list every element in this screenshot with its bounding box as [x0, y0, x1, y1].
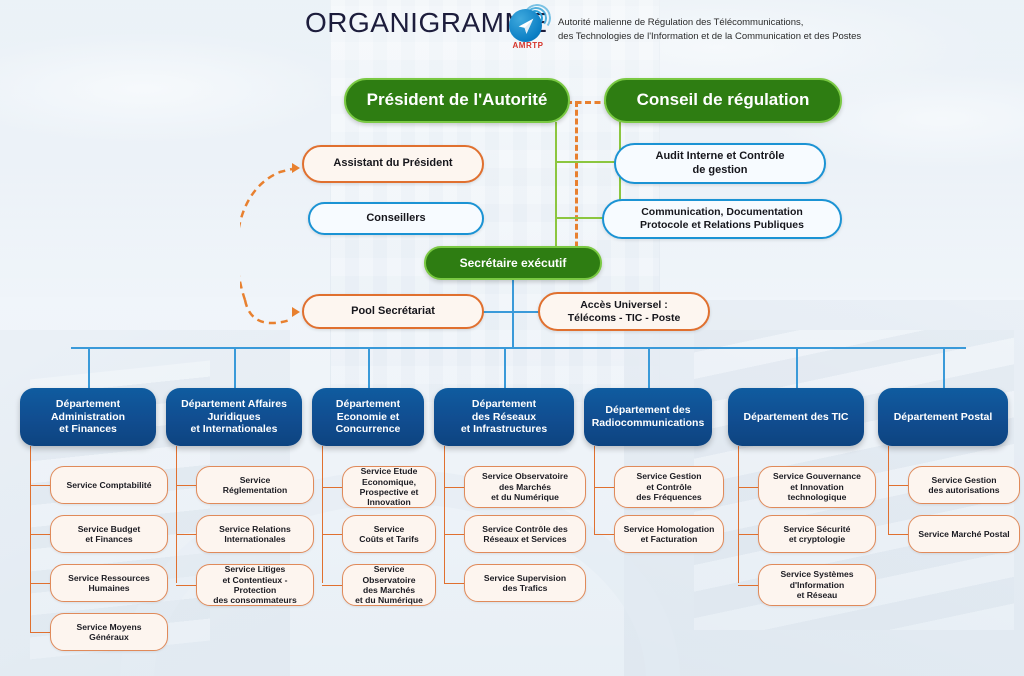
- service-label-line-2: et Innovation: [790, 482, 843, 492]
- node-service-affaires-juridiques-et-internationales-2[interactable]: Service RelationsInternationales: [196, 515, 314, 553]
- node-communication[interactable]: Communication, Documentation Protocole e…: [602, 199, 842, 239]
- connector-service-spine-affaires-juridiques-et-internationales: [176, 446, 177, 583]
- service-label-line-1: Service Observatoire: [348, 564, 430, 585]
- service-label-line-1: Service Systèmes: [780, 569, 853, 579]
- connector-bus-to-administration-et-finances: [88, 347, 90, 388]
- node-department-postal[interactable]: Département Postal: [878, 388, 1008, 446]
- acces-line-1: Accès Universel :: [580, 299, 668, 312]
- node-conseillers[interactable]: Conseillers: [308, 202, 484, 235]
- node-secretaire-executif[interactable]: Secrétaire exécutif: [424, 246, 602, 280]
- node-department-affaires-juridiques-et-internationales[interactable]: Département AffairesJuridiqueset Interna…: [166, 388, 302, 446]
- communication-line-1: Communication, Documentation: [641, 206, 803, 219]
- connector-stub-administration-et-finances-1: [30, 485, 50, 486]
- connector-stub-economie-et-concurrence-3: [322, 585, 342, 586]
- service-label-line-1: Service Moyens: [77, 622, 142, 632]
- connector-service-spine-postal: [888, 446, 889, 534]
- connector-stub-affaires-juridiques-et-internationales-3: [176, 585, 196, 586]
- node-acces-universel[interactable]: Accès Universel : Télécoms - TIC - Poste: [538, 292, 710, 331]
- department-bus-horizontal: [71, 347, 966, 349]
- service-label-line-2: et Facturation: [641, 534, 698, 544]
- acces-line-2: Télécoms - TIC - Poste: [568, 312, 681, 325]
- node-service-reseaux-et-infrastructures-3[interactable]: Service Supervisiondes Trafics: [464, 564, 586, 602]
- node-service-tic-3[interactable]: Service Systèmesd'Informationet Réseau: [758, 564, 876, 606]
- connector-stub-affaires-juridiques-et-internationales-2: [176, 534, 196, 535]
- connector-service-spine-radiocommunications: [594, 446, 595, 534]
- connector-stub-postal-1: [888, 485, 908, 486]
- node-department-economie-et-concurrence[interactable]: DépartementEconomie etConcurrence: [312, 388, 424, 446]
- audit-line-1: Audit Interne et Contrôle: [656, 150, 785, 163]
- service-label-line-1: Service Etude: [361, 466, 418, 476]
- service-label-line-2: des Marchés: [363, 585, 415, 595]
- service-label-line-1: Service Observatoire: [482, 471, 568, 481]
- service-label-line-1: Service Gouvernance: [773, 471, 861, 481]
- connector-stub-administration-et-finances-3: [30, 583, 50, 584]
- service-label-line-1: Service Gestion: [932, 475, 997, 485]
- connector-stub-reseaux-et-infrastructures-3: [444, 583, 464, 584]
- department-label-line-1: Département Postal: [894, 411, 993, 424]
- connector-service-spine-reseaux-et-infrastructures: [444, 446, 445, 583]
- service-label-line-3: et Réseau: [797, 590, 838, 600]
- node-audit-interne[interactable]: Audit Interne et Contrôle de gestion: [614, 143, 826, 184]
- service-label-line-3: et du Numérique: [491, 492, 559, 502]
- connector-bus-to-postal: [943, 347, 945, 388]
- node-service-affaires-juridiques-et-internationales-1[interactable]: ServiceRéglementation: [196, 466, 314, 504]
- department-label-line-2: des Réseaux: [472, 411, 536, 424]
- department-label-line-3: et Internationales: [191, 423, 278, 436]
- subtitle-line-2: des Technologies de l'Information et de …: [558, 30, 888, 44]
- node-assistant-president[interactable]: Assistant du Président: [302, 145, 484, 183]
- service-label-line-2: Réglementation: [223, 485, 287, 495]
- department-label-line-1: Département Affaires: [181, 398, 287, 411]
- service-label-line-1: Service Comptabilité: [66, 480, 151, 490]
- department-label-line-3: et Finances: [59, 423, 117, 436]
- service-label-line-3: des consommateurs: [213, 595, 297, 605]
- connector-secretaire-down: [512, 280, 514, 348]
- connector-stub-reseaux-et-infrastructures-2: [444, 534, 464, 535]
- connector-stub-reseaux-et-infrastructures-1: [444, 487, 464, 488]
- connector-stub-postal-2: [888, 534, 908, 535]
- connector-service-spine-tic: [738, 446, 739, 583]
- connector-service-spine-administration-et-finances: [30, 446, 31, 632]
- connector-bus-to-affaires-juridiques-et-internationales: [234, 347, 236, 388]
- node-service-economie-et-concurrence-1[interactable]: Service EtudeEconomique,Prospective et I…: [342, 466, 436, 508]
- arrowhead-to-pool: [292, 307, 300, 317]
- service-label-line-2: Humaines: [88, 583, 129, 593]
- department-label-line-1: Département: [336, 398, 400, 411]
- node-service-economie-et-concurrence-2[interactable]: ServiceCoûts et Tarifs: [342, 515, 436, 553]
- service-label-line-1: Service Marché Postal: [918, 529, 1009, 539]
- node-service-administration-et-finances-3[interactable]: Service RessourcesHumaines: [50, 564, 168, 602]
- service-label-line-2: et Contentieux - Protection: [202, 575, 308, 596]
- service-label-line-2: Internationales: [224, 534, 285, 544]
- connector-bus-to-economie-et-concurrence: [368, 347, 370, 388]
- node-department-tic[interactable]: Département des TIC: [728, 388, 864, 446]
- service-label-line-2: des Trafics: [503, 583, 548, 593]
- node-service-affaires-juridiques-et-internationales-3[interactable]: Service Litigeset Contentieux - Protecti…: [196, 564, 314, 606]
- connector-stub-administration-et-finances-4: [30, 632, 50, 633]
- service-label-line-1: Service Litiges: [225, 564, 286, 574]
- paper-plane-icon: [515, 15, 537, 37]
- service-label-line-1: Service Budget: [78, 524, 141, 534]
- service-label-line-3: des Fréquences: [636, 492, 701, 502]
- service-label-line-3: technologique: [788, 492, 847, 502]
- service-label-line-2: des Marchés: [499, 482, 551, 492]
- node-pool-secretariat[interactable]: Pool Secrétariat: [302, 294, 484, 329]
- node-department-administration-et-finances[interactable]: DépartementAdministrationet Finances: [20, 388, 156, 446]
- connector-to-assistant-row: [556, 161, 616, 163]
- connector-stub-tic-2: [738, 534, 758, 535]
- service-label-line-2: Généraux: [89, 632, 129, 642]
- department-label-line-2: Juridiques: [207, 411, 260, 424]
- connector-stub-economie-et-concurrence-2: [322, 534, 342, 535]
- node-service-radiocommunications-2[interactable]: Service Homologationet Facturation: [614, 515, 724, 553]
- amrtp-logo: AMRTP: [505, 6, 550, 51]
- node-service-administration-et-finances-2[interactable]: Service Budgetet Finances: [50, 515, 168, 553]
- service-label-line-2: et Finances: [85, 534, 132, 544]
- connector-stub-affaires-juridiques-et-internationales-1: [176, 485, 196, 486]
- node-service-postal-1[interactable]: Service Gestiondes autorisations: [908, 466, 1020, 504]
- node-service-economie-et-concurrence-3[interactable]: Service Observatoiredes Marchéset du Num…: [342, 564, 436, 606]
- department-label-line-1: Département des: [605, 404, 690, 417]
- organigramme-canvas: ORGANIGRAMME AMRTP Autorité malienne de …: [0, 0, 1024, 676]
- communication-line-2: Protocole et Relations Publiques: [640, 219, 804, 232]
- connector-stub-tic-3: [738, 585, 758, 586]
- node-department-radiocommunications[interactable]: Département desRadiocommunications: [584, 388, 712, 446]
- node-service-administration-et-finances-1[interactable]: Service Comptabilité: [50, 466, 168, 504]
- node-service-reseaux-et-infrastructures-2[interactable]: Service Contrôle desRéseaux et Services: [464, 515, 586, 553]
- connector-bus-to-tic: [796, 347, 798, 388]
- header: ORGANIGRAMME AMRTP Autorité malienne de …: [0, 0, 1024, 58]
- node-service-reseaux-et-infrastructures-1[interactable]: Service Observatoiredes Marchéset du Num…: [464, 466, 586, 508]
- service-label-line-2: Economique,: [362, 477, 416, 487]
- node-service-postal-2[interactable]: Service Marché Postal: [908, 515, 1020, 553]
- connector-bus-to-reseaux-et-infrastructures: [504, 347, 506, 388]
- connector-stub-radiocommunications-1: [594, 487, 614, 488]
- connector-conseil-vertical-dashed: [575, 101, 578, 265]
- service-label-line-2: et cryptologie: [789, 534, 845, 544]
- connector-service-spine-economie-et-concurrence: [322, 446, 323, 583]
- service-label-line-1: Service: [240, 475, 271, 485]
- department-label-line-2: Radiocommunications: [592, 417, 705, 430]
- connector-stub-tic-1: [738, 487, 758, 488]
- service-label-line-1: Service Sécurité: [784, 524, 851, 534]
- service-label-line-1: Service Gestion: [637, 471, 702, 481]
- connector-stub-economie-et-concurrence-1: [322, 487, 342, 488]
- department-label-line-1: Département: [56, 398, 120, 411]
- department-label-line-3: Concurrence: [336, 423, 401, 436]
- connector-bus-to-radiocommunications: [648, 347, 650, 388]
- service-label-line-1: Service Ressources: [68, 573, 150, 583]
- service-label-line-2: Réseaux et Services: [483, 534, 566, 544]
- service-label-line-1: Service Relations: [219, 524, 291, 534]
- department-label-line-1: Département des TIC: [743, 411, 848, 424]
- service-label-line-2: et Contrôle: [646, 482, 691, 492]
- service-label-line-2: d'Information: [790, 580, 845, 590]
- service-label-line-2: Coûts et Tarifs: [359, 534, 419, 544]
- arrowhead-to-assistant: [292, 163, 300, 173]
- department-label-line-3: et Infrastructures: [461, 423, 547, 436]
- node-conseil-regulation[interactable]: Conseil de régulation: [604, 78, 842, 123]
- subtitle-line-1: Autorité malienne de Régulation des Télé…: [558, 16, 888, 30]
- service-label-line-1: Service Homologation: [624, 524, 715, 534]
- node-service-tic-1[interactable]: Service Gouvernanceet Innovationtechnolo…: [758, 466, 876, 508]
- logo-wordmark: AMRTP: [507, 41, 549, 50]
- service-label-line-2: des autorisations: [928, 485, 999, 495]
- connector-stub-administration-et-finances-2: [30, 534, 50, 535]
- service-label-line-1: Service Supervision: [484, 573, 566, 583]
- authority-subtitle: Autorité malienne de Régulation des Télé…: [558, 16, 888, 44]
- service-label-line-3: et du Numérique: [355, 595, 423, 605]
- node-department-reseaux-et-infrastructures[interactable]: Départementdes Réseauxet Infrastructures: [434, 388, 574, 446]
- service-label-line-3: Prospective et Innovation: [348, 487, 430, 508]
- node-president[interactable]: Président de l'Autorité: [344, 78, 570, 123]
- department-label-line-1: Département: [472, 398, 536, 411]
- node-service-administration-et-finances-4[interactable]: Service MoyensGénéraux: [50, 613, 168, 651]
- node-service-radiocommunications-1[interactable]: Service Gestionet Contrôledes Fréquences: [614, 466, 724, 508]
- service-label-line-1: Service: [374, 524, 405, 534]
- connector-stub-radiocommunications-2: [594, 534, 614, 535]
- department-label-line-2: Economie et: [337, 411, 399, 424]
- service-label-line-1: Service Contrôle des: [482, 524, 568, 534]
- node-service-tic-2[interactable]: Service Sécuritéet cryptologie: [758, 515, 876, 553]
- audit-line-2: de gestion: [692, 164, 747, 177]
- department-label-line-2: Administration: [51, 411, 125, 424]
